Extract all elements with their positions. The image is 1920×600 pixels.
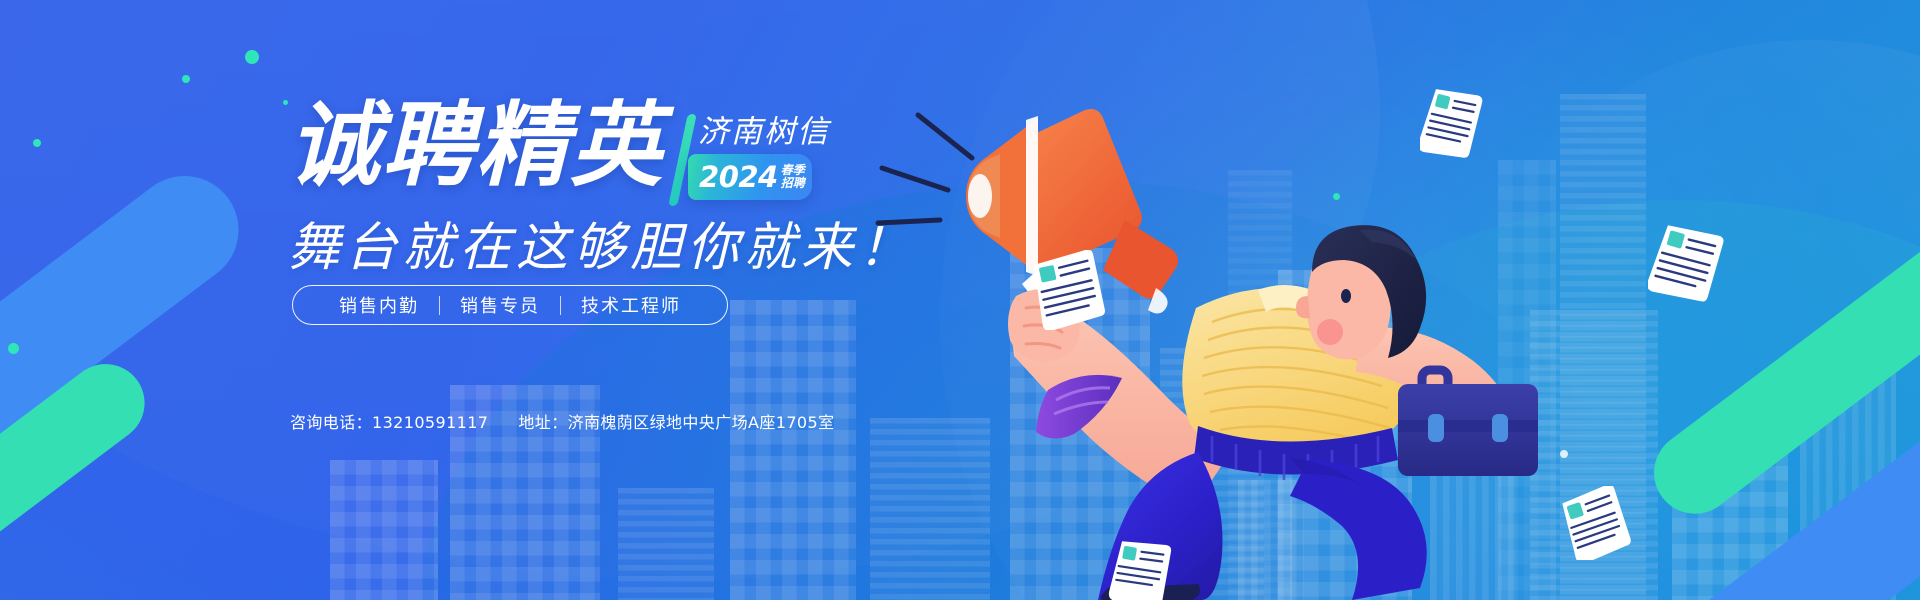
recruitment-banner: 诚聘精英 济南树信 2024 春季 招聘 舞台就在这够胆你就来！ 销售内勤 销售… xyxy=(0,0,1920,600)
job-tag-tech-engineer[interactable]: 技术工程师 xyxy=(561,292,701,318)
address-text: 地址：济南槐荫区绿地中央广场A座1705室 xyxy=(518,409,834,433)
year-badge: 2024 春季 招聘 xyxy=(688,154,812,200)
company-name: 济南树信 xyxy=(698,106,830,151)
resume-paper-icon xyxy=(1420,88,1484,160)
page-title: 诚聘精英 xyxy=(288,100,664,192)
job-positions-pill[interactable]: 销售内勤 销售专员 技术工程师 xyxy=(292,285,728,325)
company-badge-group: 济南树信 2024 春季 招聘 xyxy=(672,106,832,206)
address-value: 济南槐荫区绿地中央广场A座1705室 xyxy=(568,413,835,432)
resume-paper-icon xyxy=(1030,250,1110,330)
subtitle: 舞台就在这够胆你就来！ xyxy=(288,205,915,280)
resume-paper-icon xyxy=(1648,224,1726,304)
badge-year: 2024 xyxy=(699,160,778,194)
headline-row: 诚聘精英 济南树信 2024 春季 招聘 xyxy=(288,100,832,206)
badge-season-line2: 招聘 xyxy=(781,177,805,190)
sound-lines-icon xyxy=(878,115,972,223)
briefcase-icon xyxy=(1398,370,1538,476)
contact-info: 咨询电话：13210591117 地址：济南槐荫区绿地中央广场A座1705室 xyxy=(290,409,834,433)
resume-paper-icon xyxy=(1560,486,1632,560)
phone-text: 咨询电话：13210591117 xyxy=(290,409,488,433)
address-label: 地址： xyxy=(518,413,567,432)
decor-dot-white xyxy=(1560,450,1568,458)
badge-season: 春季 招聘 xyxy=(781,164,805,189)
job-tag-sales-admin[interactable]: 销售内勤 xyxy=(319,292,439,318)
banner-text-content: 诚聘精英 济南树信 2024 春季 招聘 舞台就在这够胆你就来！ 销售内勤 销售… xyxy=(0,0,1000,600)
phone-label: 咨询电话： xyxy=(290,413,372,432)
character-head xyxy=(1296,225,1426,359)
resume-paper-icon xyxy=(1108,538,1174,600)
phone-number: 13210591117 xyxy=(372,413,488,432)
job-tag-sales-rep[interactable]: 销售专员 xyxy=(440,292,560,318)
